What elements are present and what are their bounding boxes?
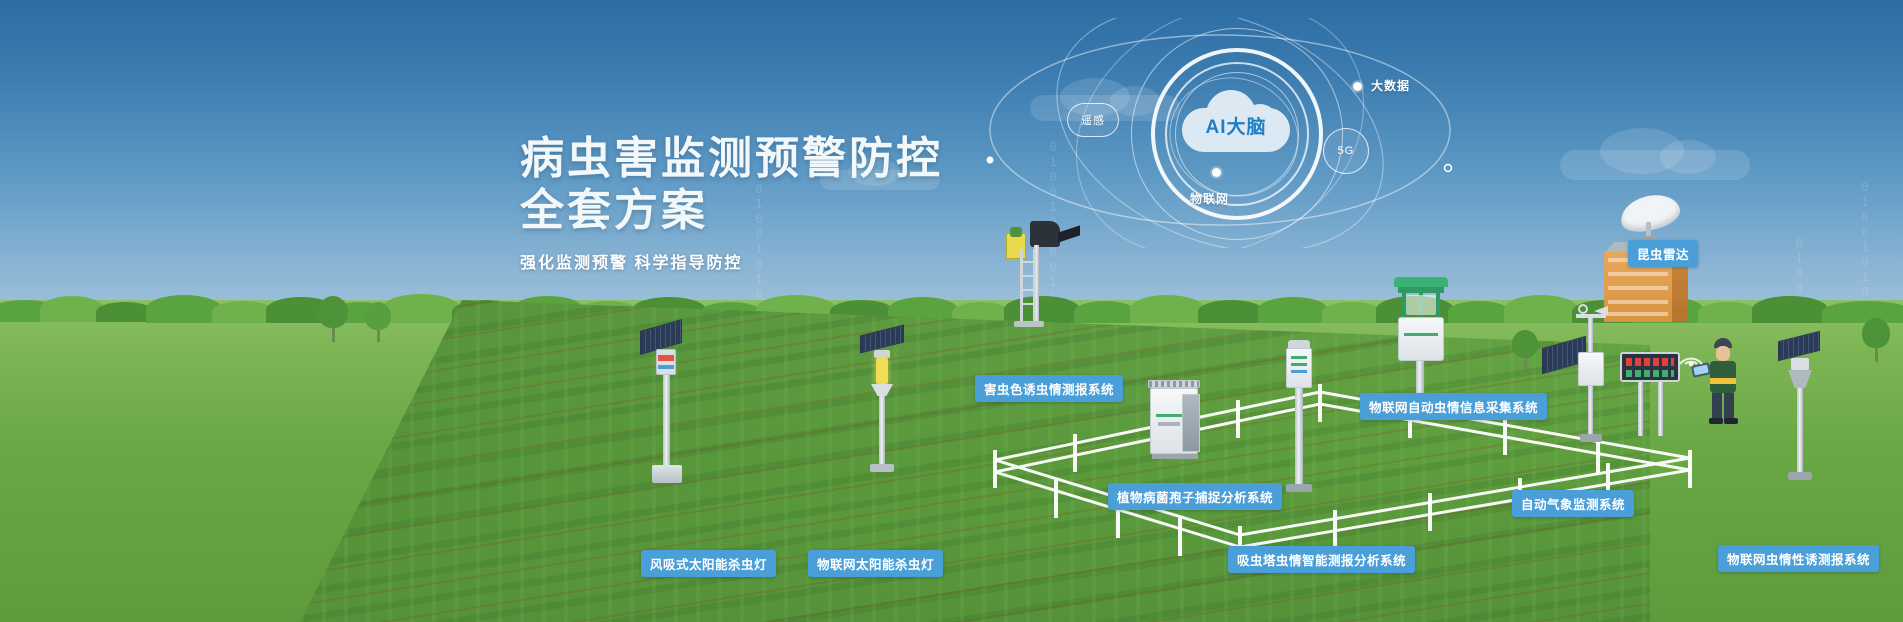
label-spore-capture[interactable]: 植物病菌孢子捕捉分析系统 — [1108, 483, 1282, 510]
title-line-2: 全套方案 — [520, 186, 708, 235]
tree-decoration — [318, 296, 348, 342]
node-5g-label: 5G — [1338, 145, 1355, 157]
node-remote-sensing-label: 遥感 — [1081, 112, 1105, 128]
tree-decoration — [1512, 330, 1538, 370]
label-iot-insect-collect[interactable]: 物联网自动虫情信息采集系统 — [1360, 393, 1547, 420]
label-suction-tower[interactable]: 吸虫塔虫情智能测报分析系统 — [1228, 546, 1415, 573]
infographic-banner: 01001010011010 010010100110 010010100110… — [0, 0, 1903, 622]
label-pest-color-trap[interactable]: 害虫色诱虫情测报系统 — [975, 375, 1123, 402]
node-big-data-dot[interactable] — [1353, 82, 1362, 91]
label-insect-radar[interactable]: 昆虫雷达 — [1628, 240, 1698, 267]
node-remote-sensing[interactable]: 遥感 — [1067, 103, 1119, 137]
ai-brain-label: AI大脑 — [1182, 112, 1290, 139]
page-subtitle: 强化监测预警 科学指导防控 — [520, 249, 943, 273]
crop-field — [300, 300, 1650, 622]
ai-cloud-icon: AI大脑 — [1182, 90, 1290, 152]
tree-decoration — [1862, 318, 1890, 362]
node-iot-label: 物联网 — [1190, 190, 1229, 207]
ai-hub-graphic: AI大脑 遥感 大数据 5G 物联网 — [1095, 28, 1455, 238]
label-auto-weather[interactable]: 自动气象监测系统 — [1512, 490, 1634, 517]
node-iot-dot[interactable] — [1212, 168, 1221, 177]
field-crops — [300, 300, 1650, 622]
label-iot-pheromone[interactable]: 物联网虫情性诱测报系统 — [1718, 545, 1879, 572]
node-5g[interactable]: 5G — [1323, 128, 1369, 174]
headline-block: 病虫害监测预警防控 全套方案 强化监测预警 科学指导防控 — [520, 133, 943, 273]
label-iot-solar-lamp[interactable]: 物联网太阳能杀虫灯 — [808, 550, 943, 577]
page-title: 病虫害监测预警防控 全套方案 — [520, 133, 943, 237]
tree-decoration — [365, 302, 391, 342]
title-line-1: 病虫害监测预警防控 — [520, 134, 943, 183]
node-big-data-label: 大数据 — [1371, 77, 1410, 94]
label-wind-suction-lamp[interactable]: 风吸式太阳能杀虫灯 — [641, 550, 776, 577]
cloud-decoration — [1660, 140, 1716, 174]
wifi-icon — [1676, 342, 1706, 368]
